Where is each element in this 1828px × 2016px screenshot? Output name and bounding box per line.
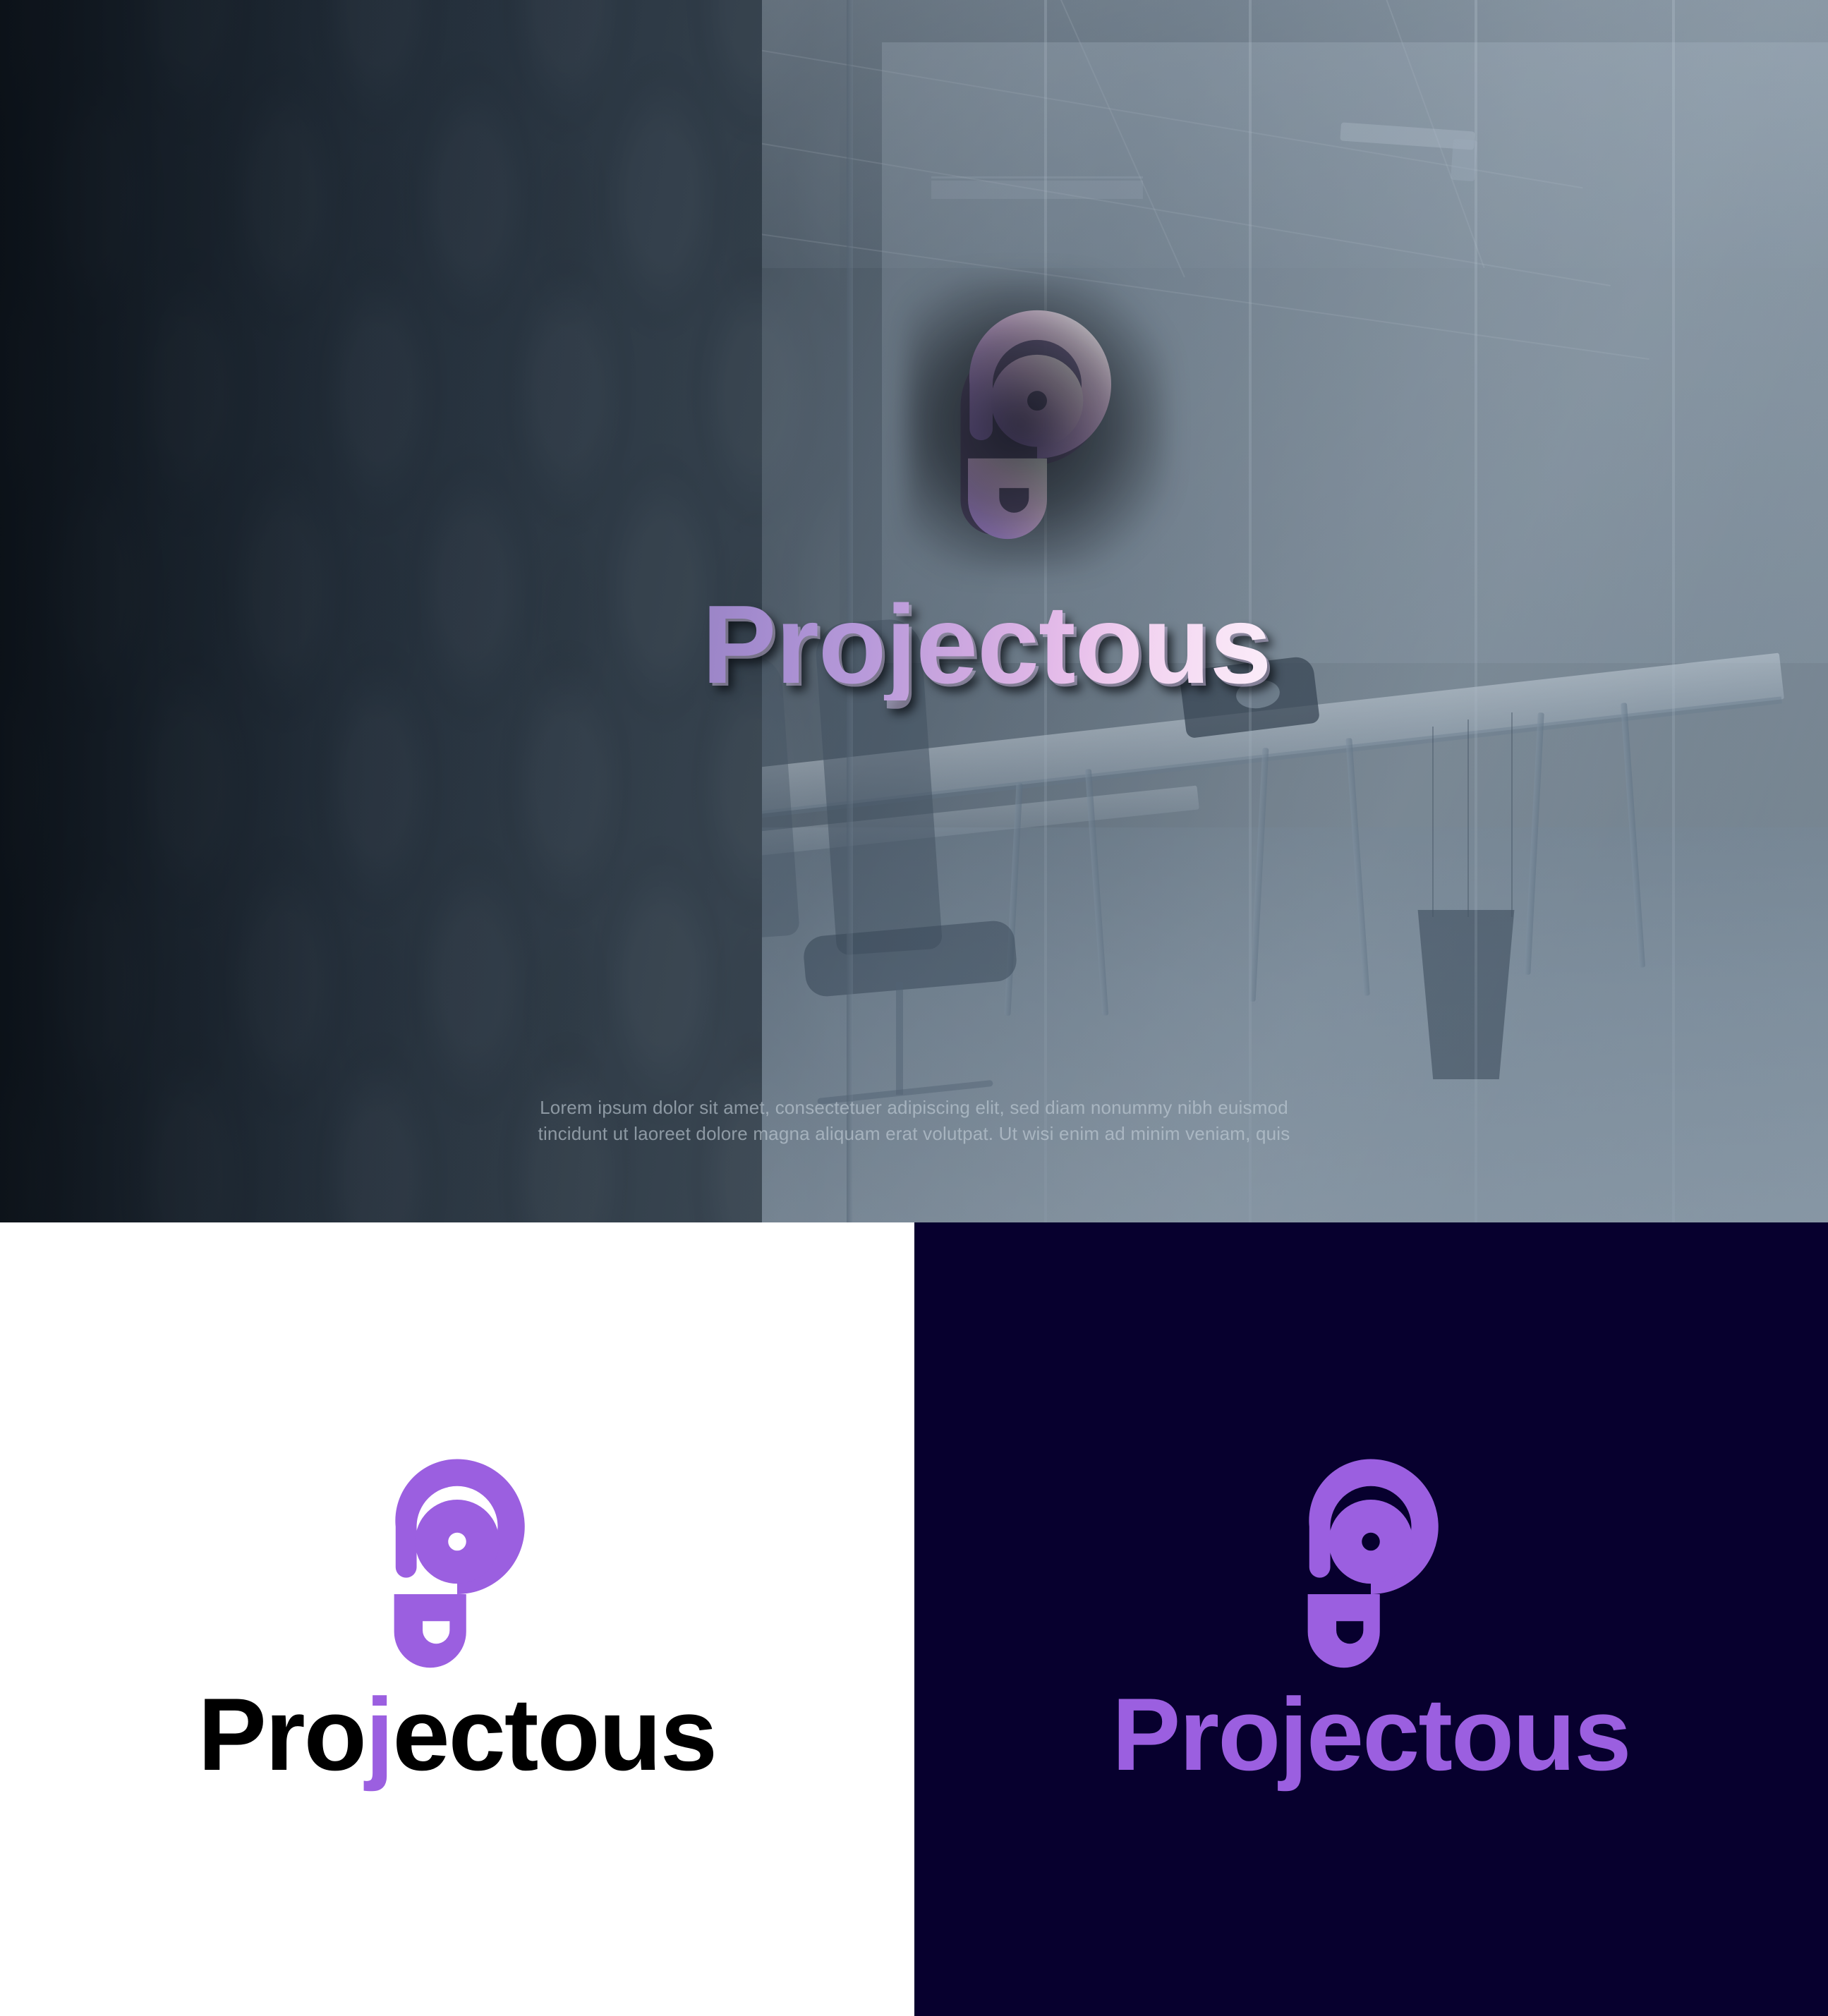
wordmark-light: Projectous <box>198 1683 716 1786</box>
projectous-p-spiral-icon <box>344 1453 570 1665</box>
projectous-p-spiral-icon <box>1258 1453 1484 1665</box>
logo-variant-light: Projectous <box>0 1222 914 2016</box>
mockup-caption: Lorem ipsum dolor sit amet, consectetuer… <box>0 1095 1828 1147</box>
left-wall-vignette <box>0 0 1828 1222</box>
logo-variant-panels: Projectous Projectous <box>0 1222 1828 2016</box>
wordmark-part-2: ectous <box>392 1677 716 1792</box>
wordmark-part-1: Pro <box>198 1677 365 1792</box>
wordmark-dark: Projectous <box>1112 1683 1630 1786</box>
caption-line-2: tincidunt ut laoreet dolore magna aliqua… <box>0 1121 1828 1147</box>
wall-signage-mockup: Projectous Projectous Projectous Lorem i… <box>0 0 1828 1222</box>
caption-line-1: Lorem ipsum dolor sit amet, consectetuer… <box>0 1095 1828 1121</box>
logo-variant-dark: Projectous <box>914 1222 1828 2016</box>
wordmark-j-accent: j <box>365 1677 393 1792</box>
